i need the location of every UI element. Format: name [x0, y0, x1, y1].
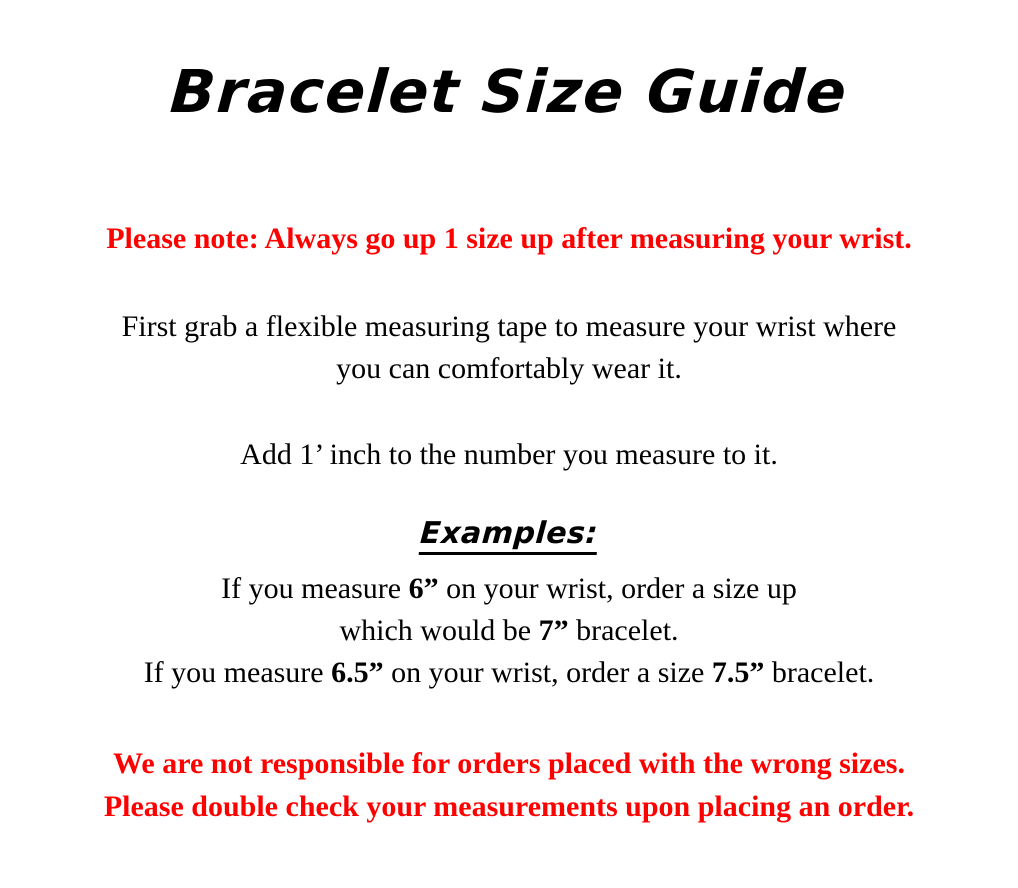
- size-guide-page: Bracelet Size Guide Please note: Always …: [0, 0, 1018, 888]
- example-middle: bracelet.: [569, 614, 679, 647]
- intro-paragraph: First grab a flexible measuring tape to …: [0, 306, 1018, 390]
- example-size-value: 6”: [409, 572, 439, 605]
- example-line: which would be 7” bracelet.: [0, 610, 1018, 652]
- example-size-value-2: 7.5”: [712, 656, 765, 689]
- please-note-text: Please note: Always go up 1 size up afte…: [0, 220, 1018, 258]
- disclaimer-block: We are not responsible for orders placed…: [0, 742, 1018, 828]
- example-prefix: If you measure: [144, 656, 331, 689]
- add-inch-paragraph: Add 1’ inch to the number you measure to…: [0, 434, 1018, 476]
- add-inch-line: Add 1’ inch to the number you measure to…: [0, 434, 1018, 476]
- example-line: If you measure 6” on your wrist, order a…: [0, 568, 1018, 610]
- intro-line-2: you can comfortably wear it.: [0, 348, 1018, 390]
- example-suffix: bracelet.: [764, 656, 874, 689]
- example-prefix: which would be: [339, 614, 538, 647]
- example-size-value: 7”: [539, 614, 569, 647]
- intro-line-1: First grab a flexible measuring tape to …: [0, 306, 1018, 348]
- example-middle: on your wrist, order a size up: [439, 572, 797, 605]
- disclaimer-line-2: Please double check your measurements up…: [0, 785, 1018, 828]
- examples-heading: Examples:: [0, 517, 1018, 555]
- examples-block: If you measure 6” on your wrist, order a…: [0, 568, 1018, 694]
- example-line: If you measure 6.5” on your wrist, order…: [0, 652, 1018, 694]
- example-middle: on your wrist, order a size: [384, 656, 712, 689]
- disclaimer-line-1: We are not responsible for orders placed…: [0, 742, 1018, 785]
- examples-heading-label: Examples:: [419, 517, 599, 555]
- example-size-value: 6.5”: [331, 656, 384, 689]
- example-prefix: If you measure: [221, 572, 408, 605]
- page-title: Bracelet Size Guide: [0, 62, 1018, 121]
